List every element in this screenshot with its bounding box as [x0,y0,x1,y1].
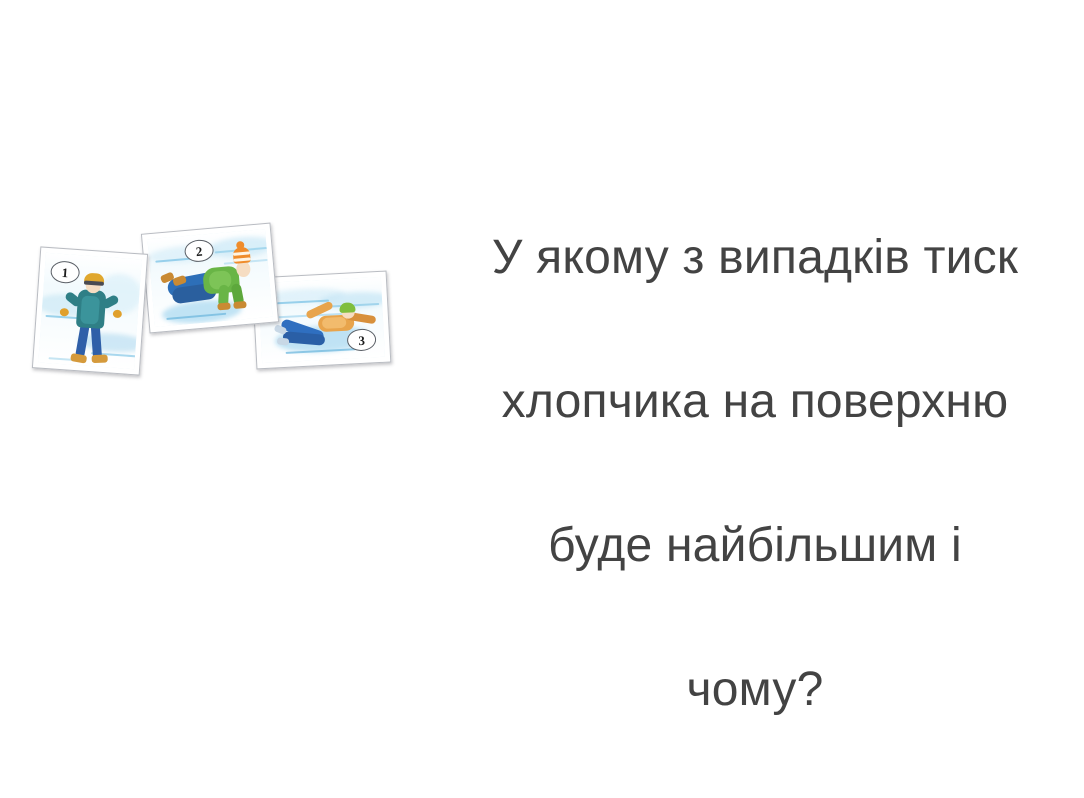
slide-canvas: 1 [0,0,1084,641]
photo-collage: 1 [28,222,403,382]
photo-card-2[interactable]: 2 [141,223,279,334]
question-line-1: У якому з випадків тиск [430,222,1080,294]
card-number-3: 3 [358,333,365,346]
question-line-2: хлопчика на поверхню [430,366,1080,438]
question-line-3: буде найбільшим і [430,510,1080,582]
card-number-2: 2 [195,244,203,258]
photo-card-1[interactable]: 1 [32,246,148,375]
photo-card-1-image: 1 [38,253,141,369]
card-number-1: 1 [61,265,68,278]
question-text-block: У якому з випадків тиск хлопчика на пове… [430,150,1080,798]
question-line-4: чому? [430,654,1080,726]
photo-card-2-image: 2 [147,229,272,327]
